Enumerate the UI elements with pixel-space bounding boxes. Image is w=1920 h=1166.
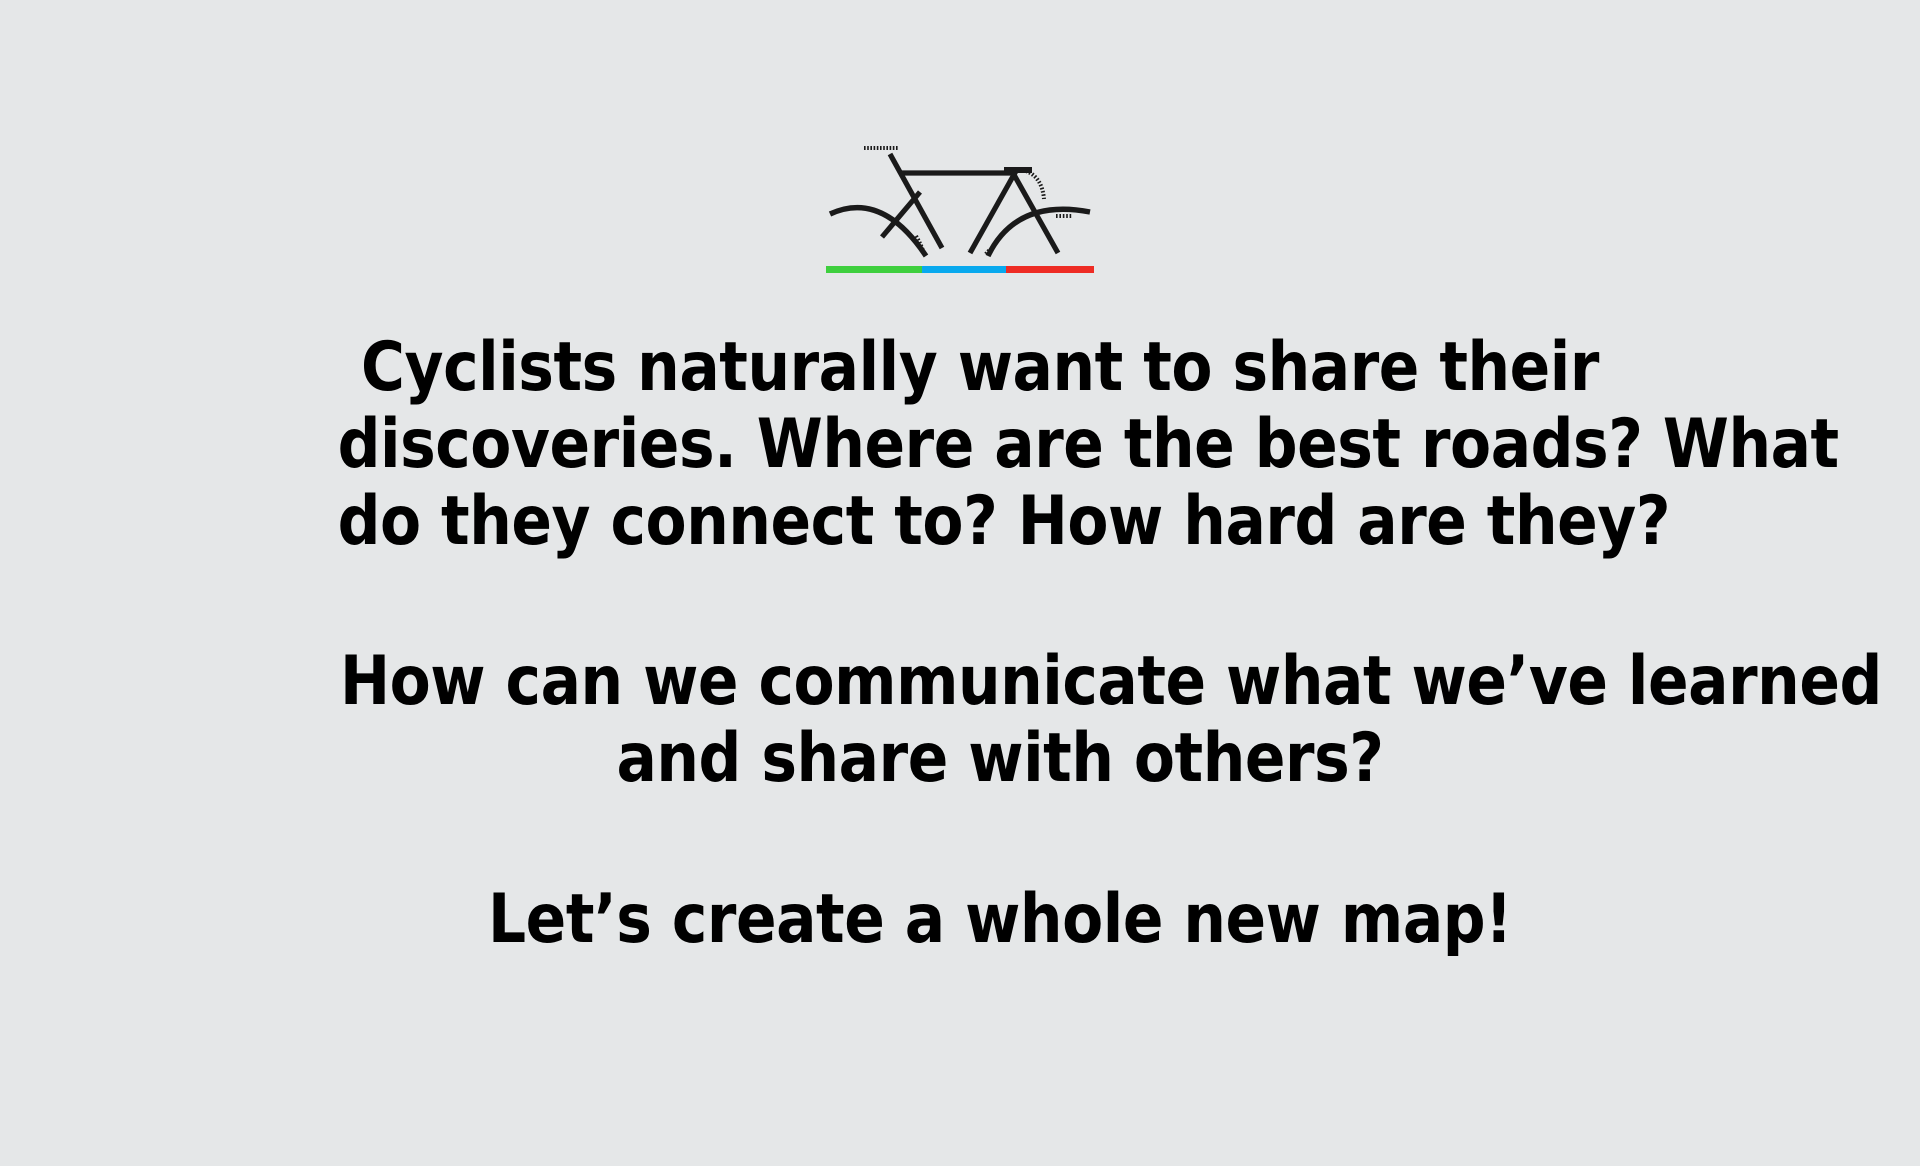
color-bar-red-segment — [1006, 266, 1094, 273]
color-bar-green-segment — [826, 266, 922, 273]
paragraph-1-line-3: do they connect to? How hard are they? — [338, 484, 1623, 561]
slide-canvas: Cyclists naturally want to share their d… — [0, 0, 1920, 1166]
color-bar-blue-segment — [922, 266, 1005, 273]
paragraph-3-line-1: Let’s create a whole new map! — [340, 882, 1660, 959]
slide-copy: Cyclists naturally want to share their d… — [250, 330, 1670, 959]
brand-logo — [815, 140, 1105, 273]
paragraph-2-line-1: How can we communicate what we’ve learne… — [340, 644, 1660, 721]
paragraph-1-line-1: Cyclists naturally want to share their — [338, 330, 1623, 407]
paragraph-2-line-2: and share with others? — [340, 721, 1660, 798]
bicycle-icon — [820, 140, 1100, 260]
brand-color-bar — [826, 266, 1094, 273]
paragraph-call-to-action: Let’s create a whole new map! — [340, 882, 1660, 959]
paragraph-1-line-2: discoveries. Where are the best roads? W… — [338, 407, 1623, 484]
paragraph-communicate: How can we communicate what we’ve learne… — [340, 644, 1660, 798]
paragraph-questions: Cyclists naturally want to share their d… — [338, 330, 1623, 560]
